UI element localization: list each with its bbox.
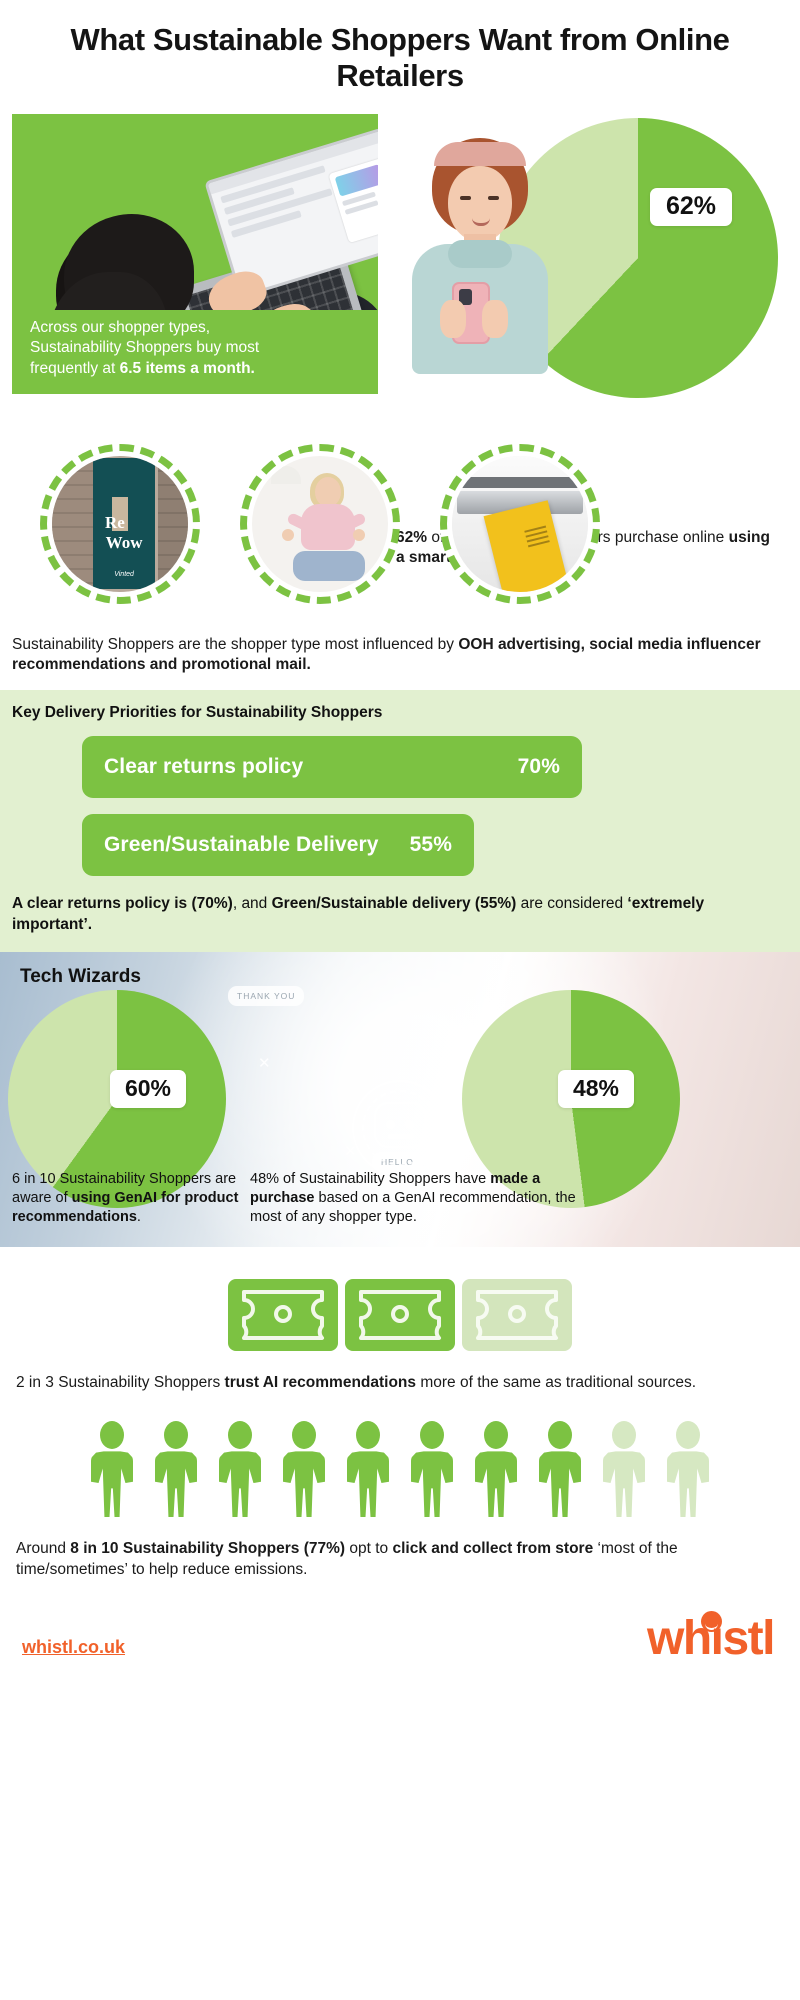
person-icon-filled-8 bbox=[532, 1421, 588, 1517]
genai-awareness-value-badge: 60% bbox=[110, 1070, 186, 1108]
banknote-pictogram bbox=[0, 1279, 800, 1351]
chatbot-icon bbox=[374, 1102, 426, 1148]
click-collect-bold-2: click and collect from store bbox=[392, 1540, 593, 1557]
person-icon-filled-5 bbox=[340, 1421, 396, 1517]
person-head bbox=[292, 1421, 316, 1449]
page-title: What Sustainable Shoppers Want from Onli… bbox=[0, 0, 800, 95]
trust-ai-caption-bold: trust AI recommendations bbox=[225, 1374, 417, 1391]
person-body bbox=[539, 1451, 581, 1517]
key-delivery-note: A clear returns policy is (70%), and Gre… bbox=[12, 894, 788, 936]
genai-awareness-caption: 6 in 10 Sustainability Shoppers are awar… bbox=[12, 1170, 242, 1228]
genai-purchase-caption: 48% of Sustainability Shoppers have made… bbox=[250, 1170, 582, 1228]
frequency-and-smartphone-section: Across our shopper types, Sustainability… bbox=[0, 114, 800, 414]
influencer-head bbox=[315, 477, 341, 507]
influencer-hand-left bbox=[282, 529, 294, 541]
person-head bbox=[484, 1421, 508, 1449]
person-body bbox=[411, 1451, 453, 1517]
billboard-word-b: Wow bbox=[106, 533, 143, 552]
key-delivery-bar-chart: Clear returns policy 70% Green/Sustainab… bbox=[82, 736, 788, 876]
bar-value: 55% bbox=[410, 833, 452, 857]
sparkle-icon: ✕ bbox=[258, 1054, 271, 1072]
person-body bbox=[283, 1451, 325, 1517]
banknote-glyph bbox=[472, 1289, 562, 1341]
person-head bbox=[164, 1421, 188, 1449]
influencer-hand-right bbox=[353, 529, 365, 541]
billboard-word-a: Re bbox=[105, 513, 125, 532]
tech-wizards-section: Tech Wizards THANK YOU HELLO ✕ ✕ 60% 48%… bbox=[0, 952, 800, 1247]
building-wall-right bbox=[158, 456, 188, 592]
person-icon-filled-3 bbox=[212, 1421, 268, 1517]
genai-awareness-caption-plain-2: . bbox=[137, 1209, 141, 1225]
click-and-collect-caption: Around 8 in 10 Sustainability Shoppers (… bbox=[0, 1539, 800, 1581]
woman-collar bbox=[448, 240, 512, 268]
person-body bbox=[155, 1451, 197, 1517]
person-icon-filled-2 bbox=[148, 1421, 204, 1517]
envelope-address-lines bbox=[524, 526, 550, 551]
genai-purchase-value-badge: 48% bbox=[558, 1070, 634, 1108]
click-collect-plain-2: opt to bbox=[345, 1540, 392, 1557]
frequency-green-panel: Across our shopper types, Sustainability… bbox=[12, 114, 378, 394]
tech-wizards-heading: Tech Wizards bbox=[20, 966, 141, 988]
billboard-illustration: Re Wow Vinted bbox=[52, 456, 188, 592]
bar-value: 70% bbox=[518, 755, 560, 779]
whistl-website-link[interactable]: whistl.co.uk bbox=[22, 1637, 125, 1658]
person-body bbox=[475, 1451, 517, 1517]
smartphone-pie-value: 62% bbox=[666, 192, 716, 221]
banknote-icon-filled-1 bbox=[228, 1279, 338, 1351]
person-body bbox=[91, 1451, 133, 1517]
person-head bbox=[420, 1421, 444, 1449]
billboard-brand: Vinted bbox=[93, 571, 156, 578]
letterbox-illustration bbox=[452, 456, 588, 592]
laptop-shopper-photo bbox=[12, 114, 378, 310]
circle-influencer-image bbox=[252, 456, 388, 592]
click-collect-bold-1: 8 in 10 Sustainability Shoppers (77%) bbox=[70, 1540, 345, 1557]
bar-clear-returns-policy: Clear returns policy 70% bbox=[82, 736, 582, 798]
person-icon-filled-1 bbox=[84, 1421, 140, 1517]
circle-letterbox-image bbox=[452, 456, 588, 592]
trust-ai-caption-plain-1: 2 in 3 Sustainability Shoppers bbox=[16, 1374, 225, 1391]
genai-purchase-value: 48% bbox=[573, 1075, 619, 1102]
circle-influencer bbox=[240, 444, 400, 604]
person-icon-empty-9 bbox=[596, 1421, 652, 1517]
circle-letterbox bbox=[440, 444, 600, 604]
people-pictogram bbox=[0, 1421, 800, 1517]
person-icon-empty-10 bbox=[660, 1421, 716, 1517]
banknote-icon-empty-3 bbox=[462, 1279, 572, 1351]
person-body bbox=[603, 1451, 645, 1517]
woman-smile bbox=[472, 218, 490, 226]
banknote-icon-filled-2 bbox=[345, 1279, 455, 1351]
billboard-panel: Re Wow Vinted bbox=[93, 458, 156, 589]
laptop-scene-illustration bbox=[12, 114, 378, 310]
person-body bbox=[347, 1451, 389, 1517]
whistl-logo: whistl bbox=[647, 1615, 774, 1663]
key-delivery-note-bold-1: A clear returns policy is (70%) bbox=[12, 895, 233, 912]
smartphone-pie-value-badge: 62% bbox=[650, 188, 732, 226]
woman-headband bbox=[434, 142, 526, 166]
trust-ai-caption: 2 in 3 Sustainability Shoppers trust AI … bbox=[0, 1373, 800, 1394]
building-wall-left bbox=[52, 456, 98, 592]
person-head bbox=[228, 1421, 252, 1449]
person-icon-filled-7 bbox=[468, 1421, 524, 1517]
smartphone-pie-area: 62% bbox=[390, 114, 790, 414]
click-collect-plain-1: Around bbox=[16, 1540, 70, 1557]
person-head bbox=[676, 1421, 700, 1449]
billboard-headline: Re Wow bbox=[93, 513, 156, 553]
key-delivery-priorities-section: Key Delivery Priorities for Sustainabili… bbox=[0, 690, 800, 952]
woman-eye-left bbox=[460, 196, 471, 200]
influence-circles-row: Re Wow Vinted bbox=[0, 430, 800, 625]
person-body bbox=[667, 1451, 709, 1517]
woman-eye-right bbox=[488, 196, 499, 200]
person-icon-filled-6 bbox=[404, 1421, 460, 1517]
genai-purchase-caption-plain-1: 48% of Sustainability Shoppers have bbox=[250, 1171, 490, 1187]
lamp-shade bbox=[271, 466, 301, 484]
genai-awareness-value: 60% bbox=[125, 1075, 171, 1102]
frequency-caption: Across our shopper types, Sustainability… bbox=[30, 318, 362, 380]
frequency-caption-bold: 6.5 items a month. bbox=[120, 360, 255, 377]
frequency-caption-line3: frequently at bbox=[30, 360, 120, 377]
thank-you-bubble: THANK YOU bbox=[228, 986, 304, 1006]
person-head bbox=[356, 1421, 380, 1449]
influencer-illustration bbox=[252, 456, 388, 592]
circle-billboard-image: Re Wow Vinted bbox=[52, 456, 188, 592]
woman-with-smartphone-photo bbox=[390, 132, 570, 372]
trust-ai-caption-plain-2: more of the same as traditional sources. bbox=[416, 1374, 696, 1391]
woman-face bbox=[448, 166, 512, 242]
key-delivery-note-bold-2: Green/Sustainable delivery (55%) bbox=[272, 895, 517, 912]
person-icon-filled-4 bbox=[276, 1421, 332, 1517]
banknote-glyph bbox=[238, 1289, 328, 1341]
key-delivery-note-plain-2: are considered bbox=[516, 895, 627, 912]
screen-ui-card bbox=[328, 157, 378, 242]
letterbox-top-bar bbox=[460, 477, 580, 488]
key-delivery-heading: Key Delivery Priorities for Sustainabili… bbox=[12, 704, 788, 722]
footer: whistl.co.uk whistl bbox=[0, 1607, 800, 1693]
influence-note-plain: Sustainability Shoppers are the shopper … bbox=[12, 636, 458, 653]
woman-hand-right bbox=[482, 300, 508, 338]
bar-label: Green/Sustainable Delivery bbox=[104, 833, 379, 857]
bar-label: Clear returns policy bbox=[104, 755, 303, 779]
circle-billboard: Re Wow Vinted bbox=[40, 444, 200, 604]
person-head bbox=[548, 1421, 572, 1449]
person-body bbox=[219, 1451, 261, 1517]
woman-hand-left bbox=[440, 300, 466, 338]
influence-note: Sustainability Shoppers are the shopper … bbox=[0, 635, 800, 677]
bar-green-sustainable-delivery: Green/Sustainable Delivery 55% bbox=[82, 814, 474, 876]
frequency-caption-line1: Across our shopper types, bbox=[30, 319, 210, 336]
chatbot-mouth bbox=[388, 1134, 414, 1139]
key-delivery-note-plain-1: , and bbox=[233, 895, 272, 912]
frequency-caption-line2: Sustainability Shoppers buy most bbox=[30, 339, 259, 356]
influencer-jeans bbox=[293, 551, 365, 581]
banknote-glyph bbox=[355, 1289, 445, 1341]
person-head bbox=[612, 1421, 636, 1449]
person-head bbox=[100, 1421, 124, 1449]
